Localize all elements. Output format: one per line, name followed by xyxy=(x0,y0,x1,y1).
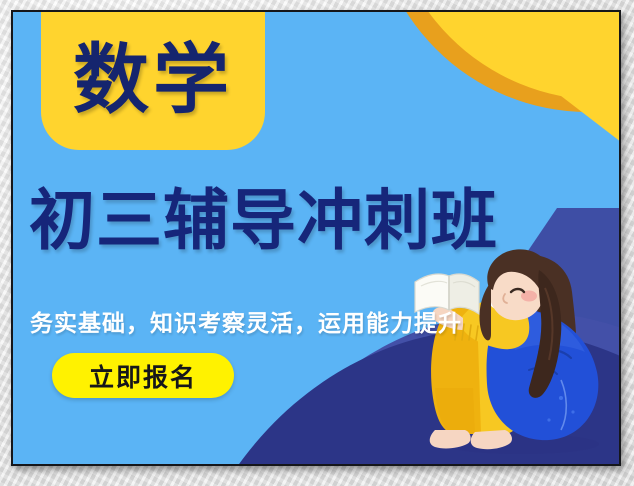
poster-card: 数学 xyxy=(11,10,621,466)
subject-badge: 数学 xyxy=(41,10,265,150)
page-title: 初三辅导冲刺班 xyxy=(29,188,617,254)
student-reading-book-illustration xyxy=(411,248,621,466)
subject-badge-label: 数学 xyxy=(73,42,233,118)
poster-subtitle: 务实基础，知识考察灵活，运用能力提升 xyxy=(30,304,462,338)
page-canvas: 数学 xyxy=(0,0,634,486)
enroll-now-button-label: 立即报名 xyxy=(89,358,197,394)
enroll-now-button[interactable]: 立即报名 xyxy=(52,353,234,398)
